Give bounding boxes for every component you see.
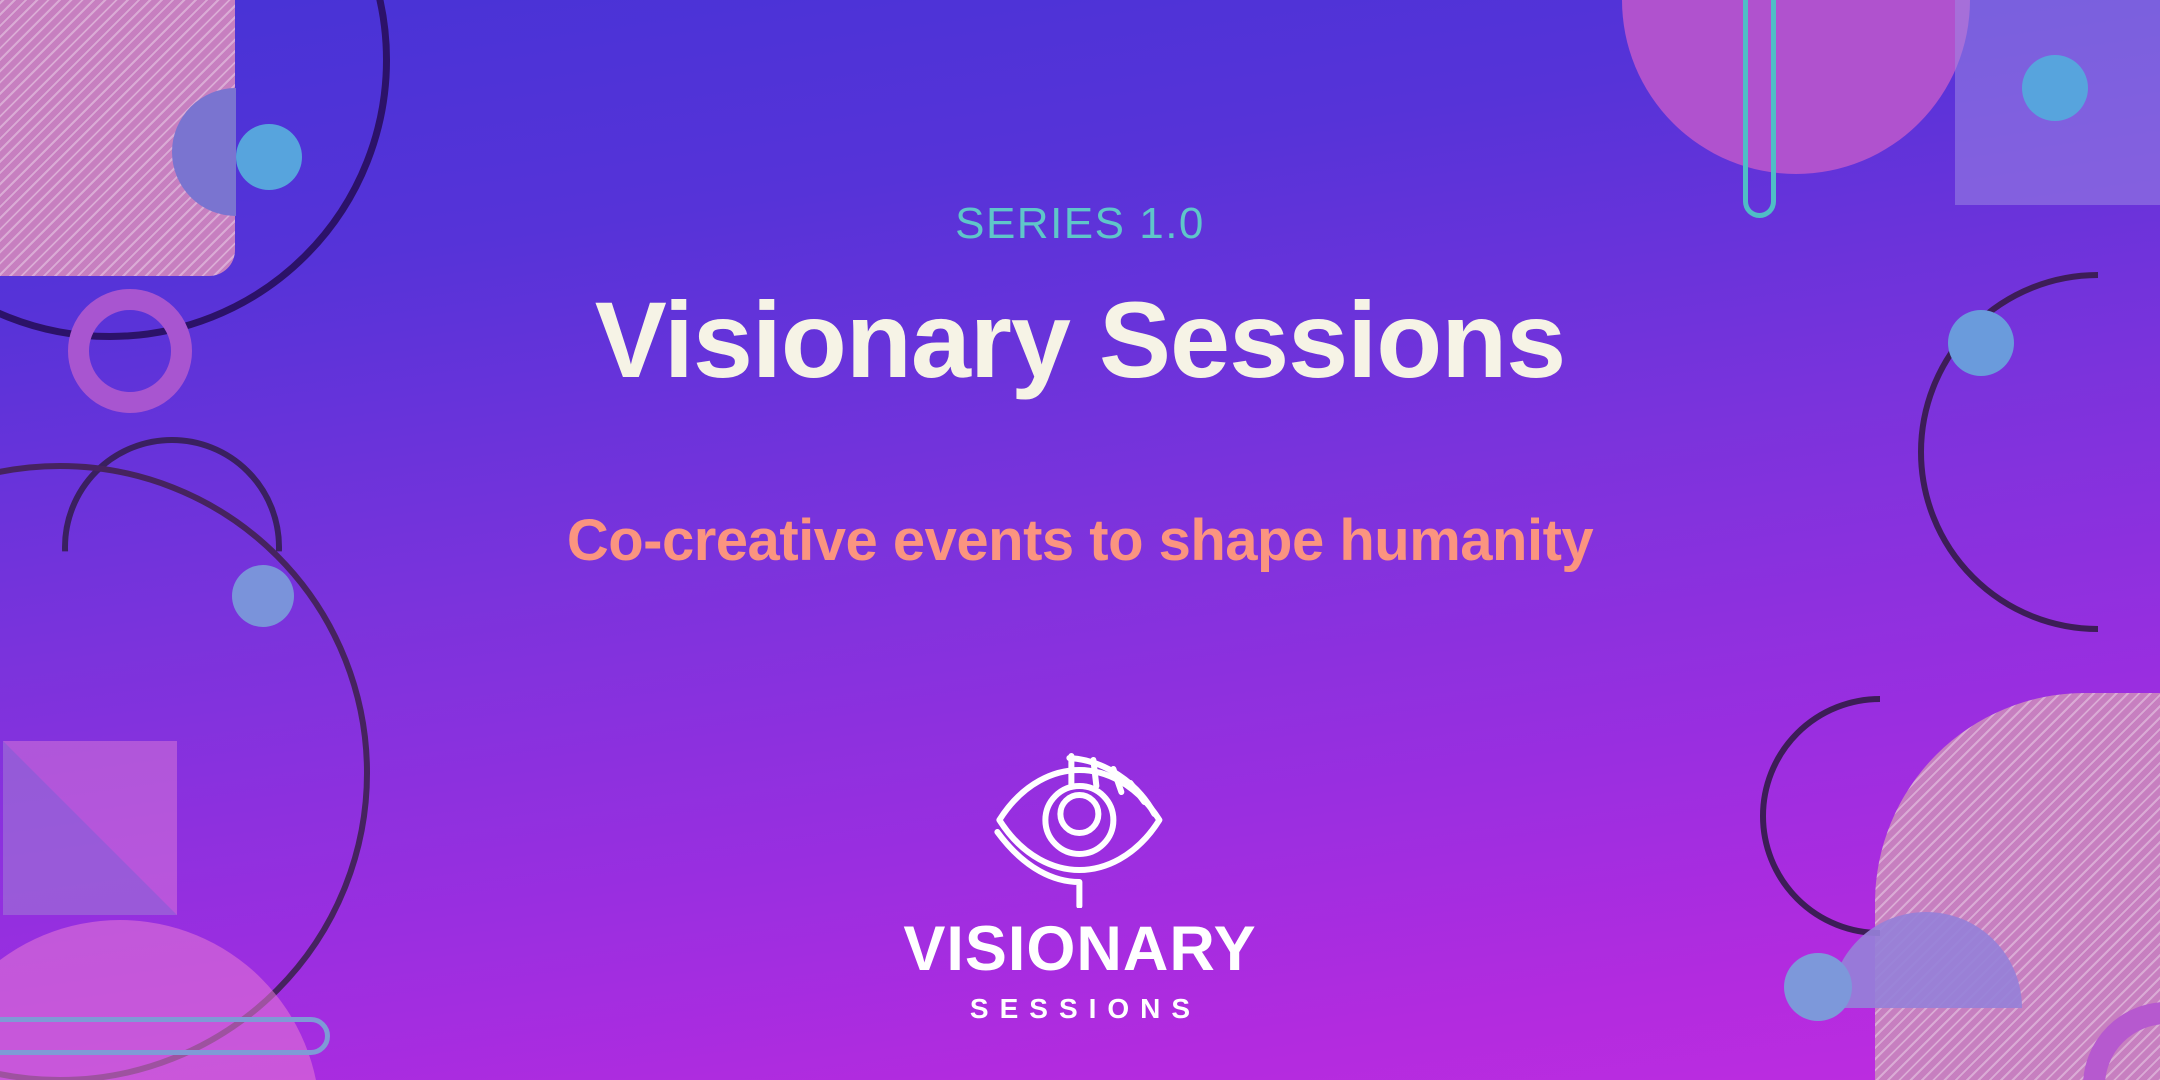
brand-logo: VISIONARY SESSIONS <box>903 748 1256 1023</box>
tagline: Co-creative events to shape humanity <box>567 509 1593 573</box>
logo-wordmark-sub: SESSIONS <box>959 995 1201 1023</box>
series-eyebrow: SERIES 1.0 <box>955 202 1205 246</box>
page-title: Visionary Sessions <box>595 284 1566 396</box>
event-banner: SERIES 1.0 Visionary Sessions Co-creativ… <box>0 0 2160 1080</box>
eye-icon <box>991 748 1169 908</box>
banner-content: SERIES 1.0 Visionary Sessions Co-creativ… <box>0 0 2160 1080</box>
logo-wordmark: VISIONARY <box>903 918 1256 981</box>
